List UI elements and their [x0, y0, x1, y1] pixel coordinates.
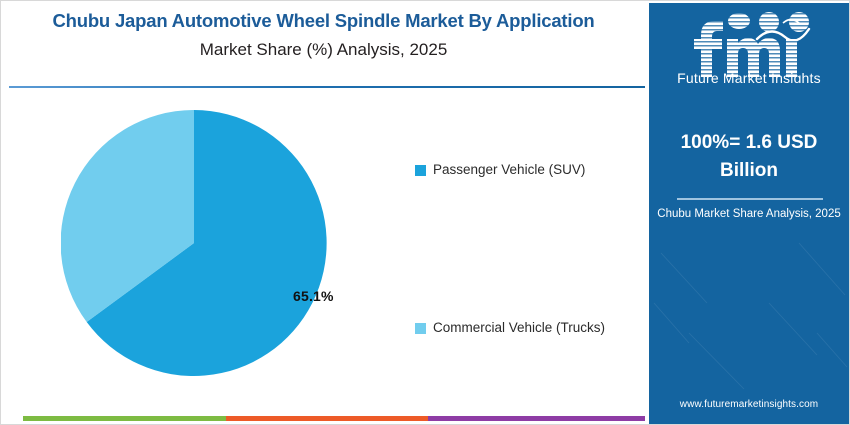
legend-item-passenger-vehicle[interactable]: Passenger Vehicle (SUV) [415, 161, 641, 179]
panel-value-line1: 100%= 1.6 USD [659, 129, 839, 157]
title-divider [9, 86, 645, 88]
chart-legend: Passenger Vehicle (SUV) Commercial Vehic… [415, 161, 641, 336]
page-subtitle: Market Share (%) Analysis, 2025 [1, 32, 646, 61]
panel-value-line2: Billion [659, 157, 839, 185]
legend-swatch-icon [415, 323, 426, 334]
pie-chart [61, 110, 327, 376]
fmi-logo-tagline: Future Market Insights [677, 70, 821, 83]
fmi-side-panel: Future Market Insights 100%= 1.6 USD Bil… [649, 3, 849, 424]
globe-icon-group [728, 12, 809, 41]
strip-segment-purple [428, 416, 645, 421]
legend-item-label: Commercial Vehicle (Trucks) [433, 319, 605, 337]
infographic-root: Chubu Japan Automotive Wheel Spindle Mar… [0, 0, 850, 425]
fmi-logo-svg: Future Market Insights [671, 9, 827, 83]
bottom-color-strip [23, 416, 645, 421]
page-title: Chubu Japan Automotive Wheel Spindle Mar… [1, 5, 646, 32]
panel-caption: Chubu Market Share Analysis, 2025 [653, 207, 845, 222]
legend-swatch-icon [415, 165, 426, 176]
legend-item-label: Passenger Vehicle (SUV) [433, 161, 585, 179]
strip-segment-orange [226, 416, 428, 421]
pie-chart-svg [61, 110, 327, 376]
strip-segment-green [23, 416, 226, 421]
panel-website-url[interactable]: www.futuremarketinsights.com [649, 399, 849, 410]
panel-divider [677, 198, 823, 200]
title-block: Chubu Japan Automotive Wheel Spindle Mar… [1, 5, 646, 61]
panel-value: 100%= 1.6 USD Billion [659, 129, 839, 184]
legend-item-commercial-vehicle[interactable]: Commercial Vehicle (Trucks) [415, 319, 641, 337]
letter-f [694, 21, 723, 77]
fmi-logo: Future Market Insights [649, 9, 849, 83]
pie-slice-value-label: 65.1% [293, 288, 334, 304]
